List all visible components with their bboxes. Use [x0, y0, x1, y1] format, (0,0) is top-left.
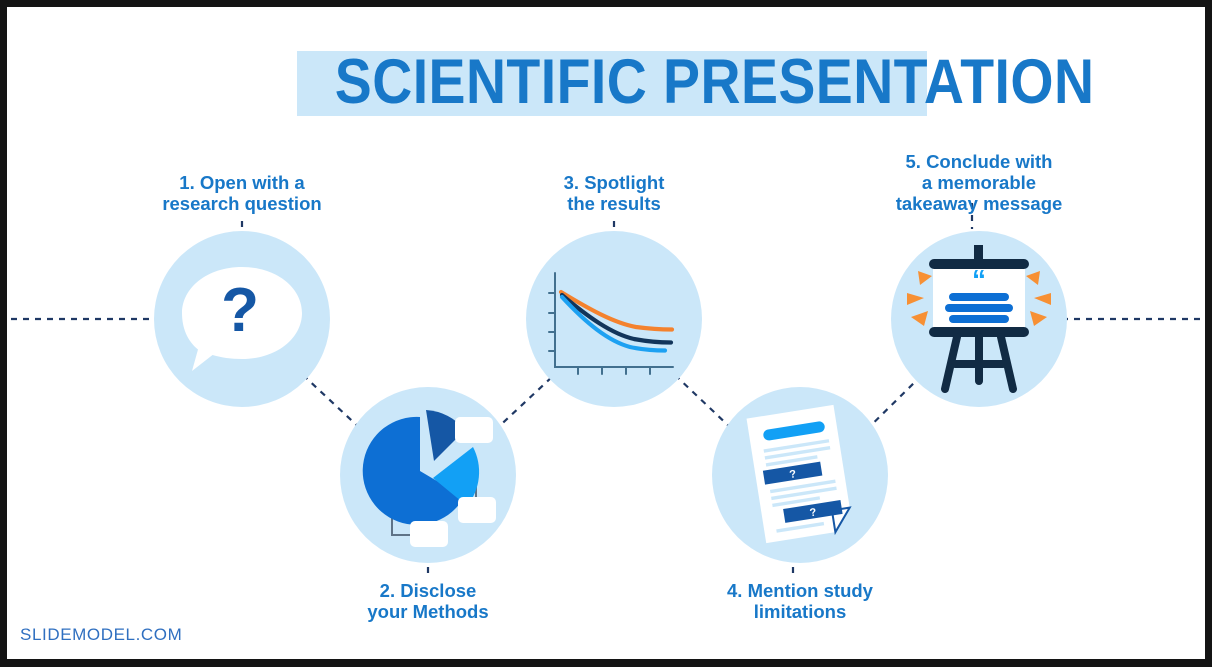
step-2-icon-circle[interactable]	[340, 387, 516, 563]
step-5-label: 5. Conclude with a memorable takeaway me…	[870, 151, 1088, 214]
step-3-icon-circle[interactable]	[526, 231, 702, 407]
step-5-label-line3: takeaway message	[870, 193, 1088, 214]
presentation-easel-quote-icon: “	[891, 231, 1067, 407]
step-5-icon-circle[interactable]: “	[891, 231, 1067, 407]
step-2-label-line1: 2. Disclose	[321, 580, 535, 601]
step-1-icon-circle[interactable]: ?	[154, 231, 330, 407]
step-1-label-line1: 1. Open with a	[135, 172, 349, 193]
step-4-label: 4. Mention study limitations	[693, 580, 907, 622]
shine-rays-right	[1026, 271, 1051, 326]
step-4-label-line1: 4. Mention study	[693, 580, 907, 601]
shine-rays-left	[907, 271, 932, 326]
question-mark-glyph: ?	[221, 276, 259, 345]
step-2-label-line2: your Methods	[321, 601, 535, 622]
step-2-label: 2. Disclose your Methods	[321, 580, 535, 622]
step-1-label-line2: research question	[135, 193, 349, 214]
slidemodel-watermark: SLIDEMODEL.COM	[20, 625, 182, 645]
step-4-icon-circle[interactable]: ? ?	[712, 387, 888, 563]
step-3-label-line2: the results	[507, 193, 721, 214]
step-1-label: 1. Open with a research question	[135, 172, 349, 214]
step-4-label-line2: limitations	[693, 601, 907, 622]
quote-glyph: “	[972, 264, 986, 295]
step-5-label-line2: a memorable	[870, 172, 1088, 193]
step-3-label: 3. Spotlight the results	[507, 172, 721, 214]
speech-bubble-question-icon: ?	[154, 231, 330, 407]
slide-canvas: SCIENTIFIC PRESENTATION	[7, 7, 1205, 659]
line-chart-icon	[526, 231, 702, 407]
slide-frame: SCIENTIFIC PRESENTATION	[0, 0, 1212, 667]
pie-chart-callouts-icon	[340, 387, 516, 563]
step-5-label-line1: 5. Conclude with	[870, 151, 1088, 172]
document-questions-icon: ? ?	[712, 387, 888, 563]
step-3-label-line1: 3. Spotlight	[507, 172, 721, 193]
